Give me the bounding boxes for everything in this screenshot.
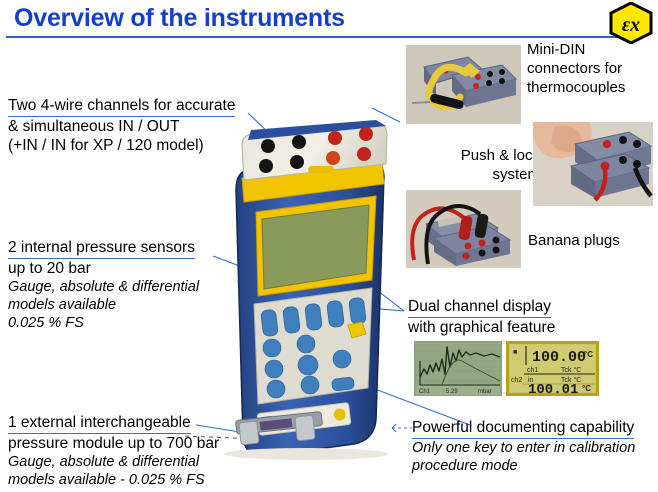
- svg-text:εx: εx: [622, 14, 640, 36]
- callout-external-module-line3: Gauge, absolute & differential: [8, 453, 219, 471]
- callout-banana-plugs: Banana plugs: [528, 231, 620, 250]
- graphical-lcd-photo: Ch1 5.29 mbar: [414, 341, 502, 396]
- page-title: Overview of the instruments: [14, 4, 345, 33]
- banana-plugs-photo: [406, 190, 521, 268]
- callout-external-module-line1: 1 external interchangeable: [8, 413, 191, 434]
- dual-lcd-unit-bottom: °C: [582, 384, 591, 393]
- dual-channel-lcd-photo: ■ 100.00 °C ch1 Tck °C ch2 in Tck °C 100…: [506, 341, 599, 396]
- svg-text:■: ■: [513, 349, 517, 356]
- callout-channels: Two 4-wire channels for accurate & simul…: [8, 96, 235, 155]
- callout-mini-din-line1: Mini-DIN: [527, 40, 625, 59]
- graph-lcd-channel-label: Ch1: [419, 389, 431, 395]
- callout-dual-display-line1: Dual channel display: [408, 297, 551, 318]
- graph-lcd-unit: mbar: [478, 389, 492, 395]
- callout-external-module: 1 external interchangeable pressure modu…: [8, 413, 219, 489]
- callout-dual-display-line2: with graphical feature: [408, 318, 555, 337]
- atex-ex-logo: εx: [608, 2, 654, 44]
- handheld-calibrator-photo: [196, 120, 411, 460]
- dual-lcd-ch1-label: ch1: [527, 367, 538, 374]
- callout-documenting: Powerful documenting capability Only one…: [412, 418, 635, 475]
- dual-lcd-value-bottom: 100.01: [528, 382, 578, 396]
- callout-external-module-line4: models available - 0.025 % FS: [8, 471, 219, 489]
- slide-canvas: Overview of the instruments εx: [0, 0, 658, 492]
- title-underline-rule: [6, 36, 642, 38]
- callout-dual-display: Dual channel display with graphical feat…: [408, 297, 555, 337]
- dual-lcd-ch2-label: ch2: [511, 377, 522, 384]
- callout-banana-plugs-line1: Banana plugs: [528, 231, 620, 250]
- push-and-lock-hand-photo: [533, 122, 653, 206]
- callout-documenting-line3: procedure mode: [412, 457, 635, 475]
- callout-internal-sensors-line4: models available: [8, 296, 199, 314]
- callout-documenting-line1: Powerful documenting capability: [412, 418, 634, 439]
- callout-channels-line2: & simultaneous IN / OUT: [8, 117, 235, 136]
- callout-internal-sensors-line5: 0.025 % FS: [8, 314, 199, 332]
- dual-lcd-ch1-sensor: Tck °C: [561, 366, 581, 374]
- dual-lcd-value-top: 100.00: [532, 349, 586, 366]
- callout-documenting-line2: Only one key to enter in calibration: [412, 439, 635, 457]
- callout-channels-line1: Two 4-wire channels for accurate: [8, 96, 235, 117]
- callout-internal-sensors-line2: up to 20 bar: [8, 259, 199, 278]
- dual-lcd-unit-top: °C: [584, 350, 593, 359]
- callout-internal-sensors: 2 internal pressure sensors up to 20 bar…: [8, 238, 199, 332]
- callout-channels-line3: (+IN / IN for XP / 120 model): [8, 136, 235, 155]
- callout-internal-sensors-line3: Gauge, absolute & differential: [8, 278, 199, 296]
- callout-mini-din: Mini-DIN connectors for thermocouples: [527, 40, 625, 97]
- callout-mini-din-line2: connectors for: [527, 59, 625, 78]
- callout-push-lock-line1: Push & lock: [430, 146, 540, 165]
- callout-internal-sensors-line1: 2 internal pressure sensors: [8, 238, 195, 259]
- mini-din-connectors-photo: [406, 45, 521, 124]
- callout-push-lock: Push & lock system: [430, 146, 540, 184]
- callout-mini-din-line3: thermocouples: [527, 78, 625, 97]
- graph-lcd-value: 5.29: [446, 389, 458, 395]
- callout-push-lock-line2: system: [430, 165, 540, 184]
- callout-external-module-line2: pressure module up to 700 bar: [8, 434, 219, 453]
